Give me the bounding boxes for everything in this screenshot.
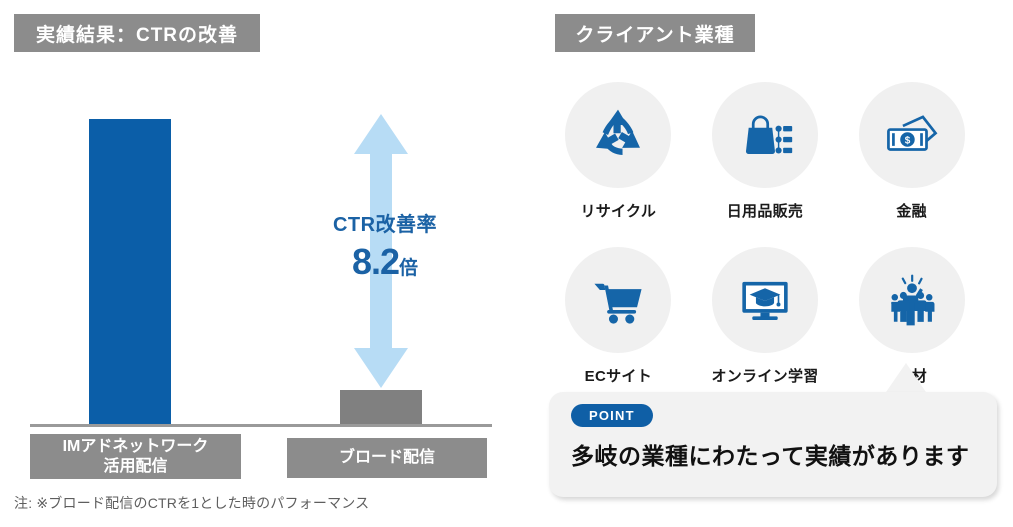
point-callout-text: 多岐の業種にわたって実績があります <box>571 437 975 471</box>
chart-baseline <box>30 424 492 427</box>
industry-label-recycle: リサイクル <box>580 200 656 221</box>
svg-text:$: $ <box>904 136 910 147</box>
people-group-icon <box>859 247 965 353</box>
industry-label-daily-goods: 日用品販売 <box>727 200 804 221</box>
chart-footnote: 注: ※ブロード配信のCTRを1とした時のパフォーマンス <box>14 493 369 513</box>
monitor-graduation-cap-icon <box>712 247 818 353</box>
industry-item-daily-goods[interactable]: 日用品販売 <box>692 82 839 221</box>
industry-grid: リサイクル 日用品販売 <box>545 82 985 386</box>
industry-label-ec-site: ECサイト <box>585 365 652 386</box>
bar-broad-delivery <box>340 390 422 425</box>
bar-im-ad-network <box>89 119 171 425</box>
point-callout: POINT 多岐の業種にわたって実績があります <box>549 392 997 497</box>
ctr-chart-panel: 実績結果：CTRの改善 CTR改善率 8.2倍 IMアドネットワーク活用配信 ブ… <box>0 0 520 527</box>
bar-chart: CTR改善率 8.2倍 IMアドネットワーク活用配信 ブロード配信 注: ※ブロ… <box>0 0 520 527</box>
industry-label-online-learning: オンライン学習 <box>711 365 818 386</box>
industry-item-ec-site[interactable]: ECサイト <box>545 247 692 386</box>
banknotes-icon: $ <box>859 82 965 188</box>
right-section-title: クライアント業種 <box>555 14 755 52</box>
recycle-icon <box>565 82 671 188</box>
shopping-cart-icon <box>565 247 671 353</box>
callout-tail-icon <box>884 363 928 395</box>
industry-item-recycle[interactable]: リサイクル <box>545 82 692 221</box>
point-badge: POINT <box>571 404 653 427</box>
industry-item-online-learning[interactable]: オンライン学習 <box>692 247 839 386</box>
bar-label-broad-delivery: ブロード配信 <box>287 438 487 478</box>
bar-label-im-text: IMアドネットワーク活用配信 <box>63 437 209 477</box>
bar-label-im-ad-network: IMアドネットワーク活用配信 <box>30 434 241 479</box>
double-arrow-vertical-icon <box>348 114 414 388</box>
shopping-bag-list-icon <box>712 82 818 188</box>
bar-label-broad-text: ブロード配信 <box>339 448 435 468</box>
industry-label-finance: 金融 <box>896 200 927 221</box>
industry-item-finance[interactable]: $ 金融 <box>838 82 985 221</box>
